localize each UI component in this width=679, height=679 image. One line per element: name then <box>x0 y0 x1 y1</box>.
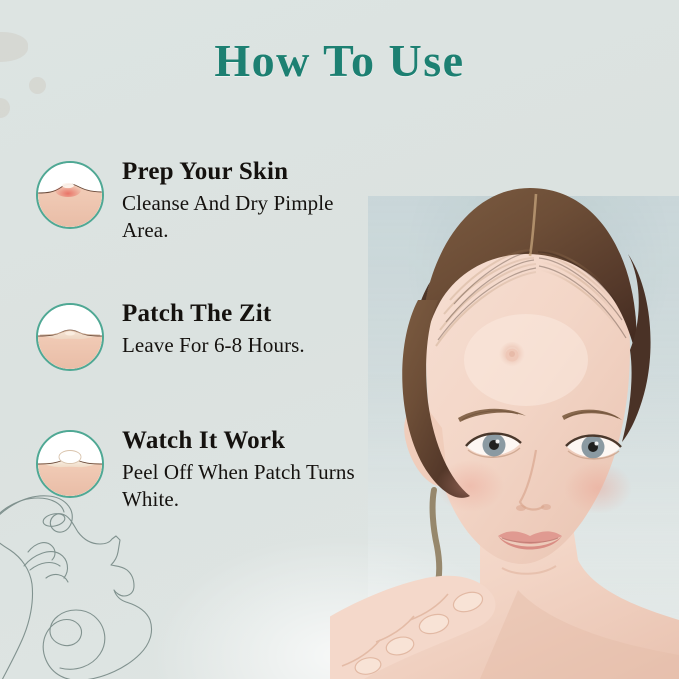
step-description-2: Leave For 6-8 Hours. <box>122 332 305 359</box>
step-title-1: Prep Your Skin <box>122 156 384 187</box>
step-description-1: Cleanse And Dry Pimple Area. <box>122 190 384 244</box>
step-text-2: Patch The Zit Leave For 6-8 Hours. <box>104 294 305 359</box>
page-title: How To Use <box>0 34 679 87</box>
step-text-1: Prep Your Skin Cleanse And Dry Pimple Ar… <box>104 152 384 244</box>
step-item-1: Prep Your Skin Cleanse And Dry Pimple Ar… <box>0 152 420 244</box>
step-title-2: Patch The Zit <box>122 298 305 329</box>
how-to-use-infographic: How To Use <box>0 0 679 679</box>
face-profile-line-art-icon <box>0 492 230 679</box>
skin-with-pimple-icon <box>36 161 104 229</box>
patch-turned-white-icon <box>36 430 104 498</box>
step-item-2: Patch The Zit Leave For 6-8 Hours. <box>0 294 420 371</box>
step-title-3: Watch It Work <box>122 425 384 456</box>
skin-with-patch-icon <box>36 303 104 371</box>
